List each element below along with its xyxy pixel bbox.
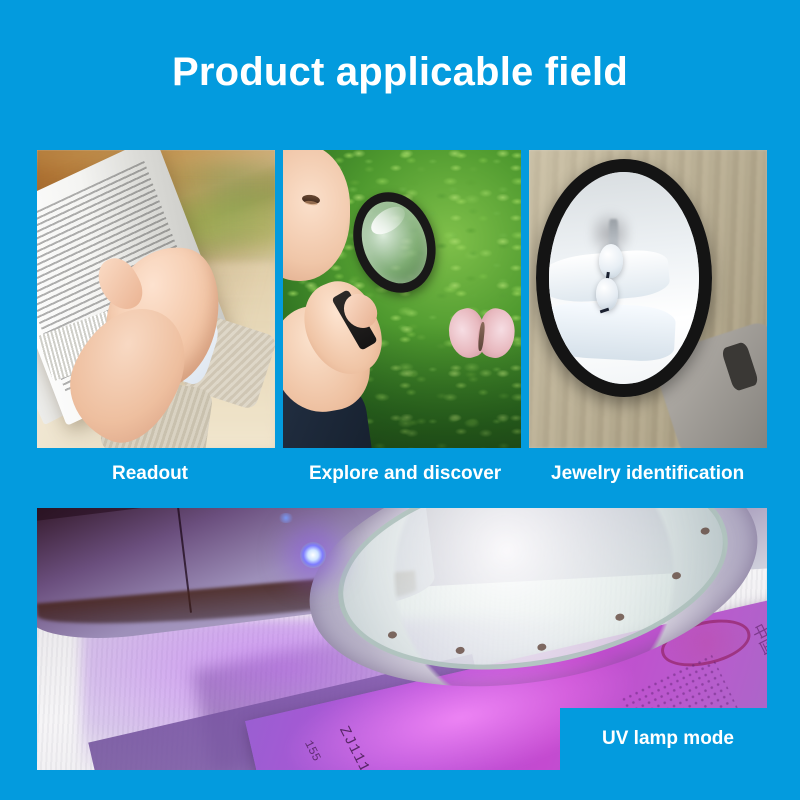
magnifier-pearls-photo [529, 150, 767, 448]
p3-pearl-lower [596, 278, 619, 310]
caption-jewelry-identification: Jewelry identification [551, 458, 744, 490]
caption-explore-and-discover: Explore and discover [309, 458, 501, 490]
caption-readout: Readout [112, 458, 188, 490]
h-uv-led-light [300, 542, 326, 568]
h-vent-hole [700, 526, 710, 534]
uv-lamp-mode-badge: UV lamp mode [560, 708, 767, 770]
p3-magnifier-lens-ring [536, 159, 712, 397]
photo-card-jewelry[interactable] [529, 150, 767, 448]
p2-butterfly [447, 305, 518, 371]
h-vent-hole [388, 631, 398, 639]
child-magnifier-nature-photo [283, 150, 521, 448]
photo-card-readout[interactable] [37, 150, 275, 448]
photo-card-explore[interactable] [283, 150, 521, 448]
p3-pearl-upper [599, 244, 623, 278]
reading-book-photo [37, 150, 275, 448]
caption-row: Readout Explore and discover Jewelry ide… [37, 458, 767, 490]
h-vent-hole [615, 613, 625, 621]
h-vent-hole [672, 572, 682, 580]
infographic-page: Product applicable field [0, 0, 800, 800]
h-vent-hole [455, 646, 465, 654]
page-title: Product applicable field [0, 48, 800, 96]
photo-grid [37, 150, 767, 448]
h-vent-hole [537, 642, 547, 650]
